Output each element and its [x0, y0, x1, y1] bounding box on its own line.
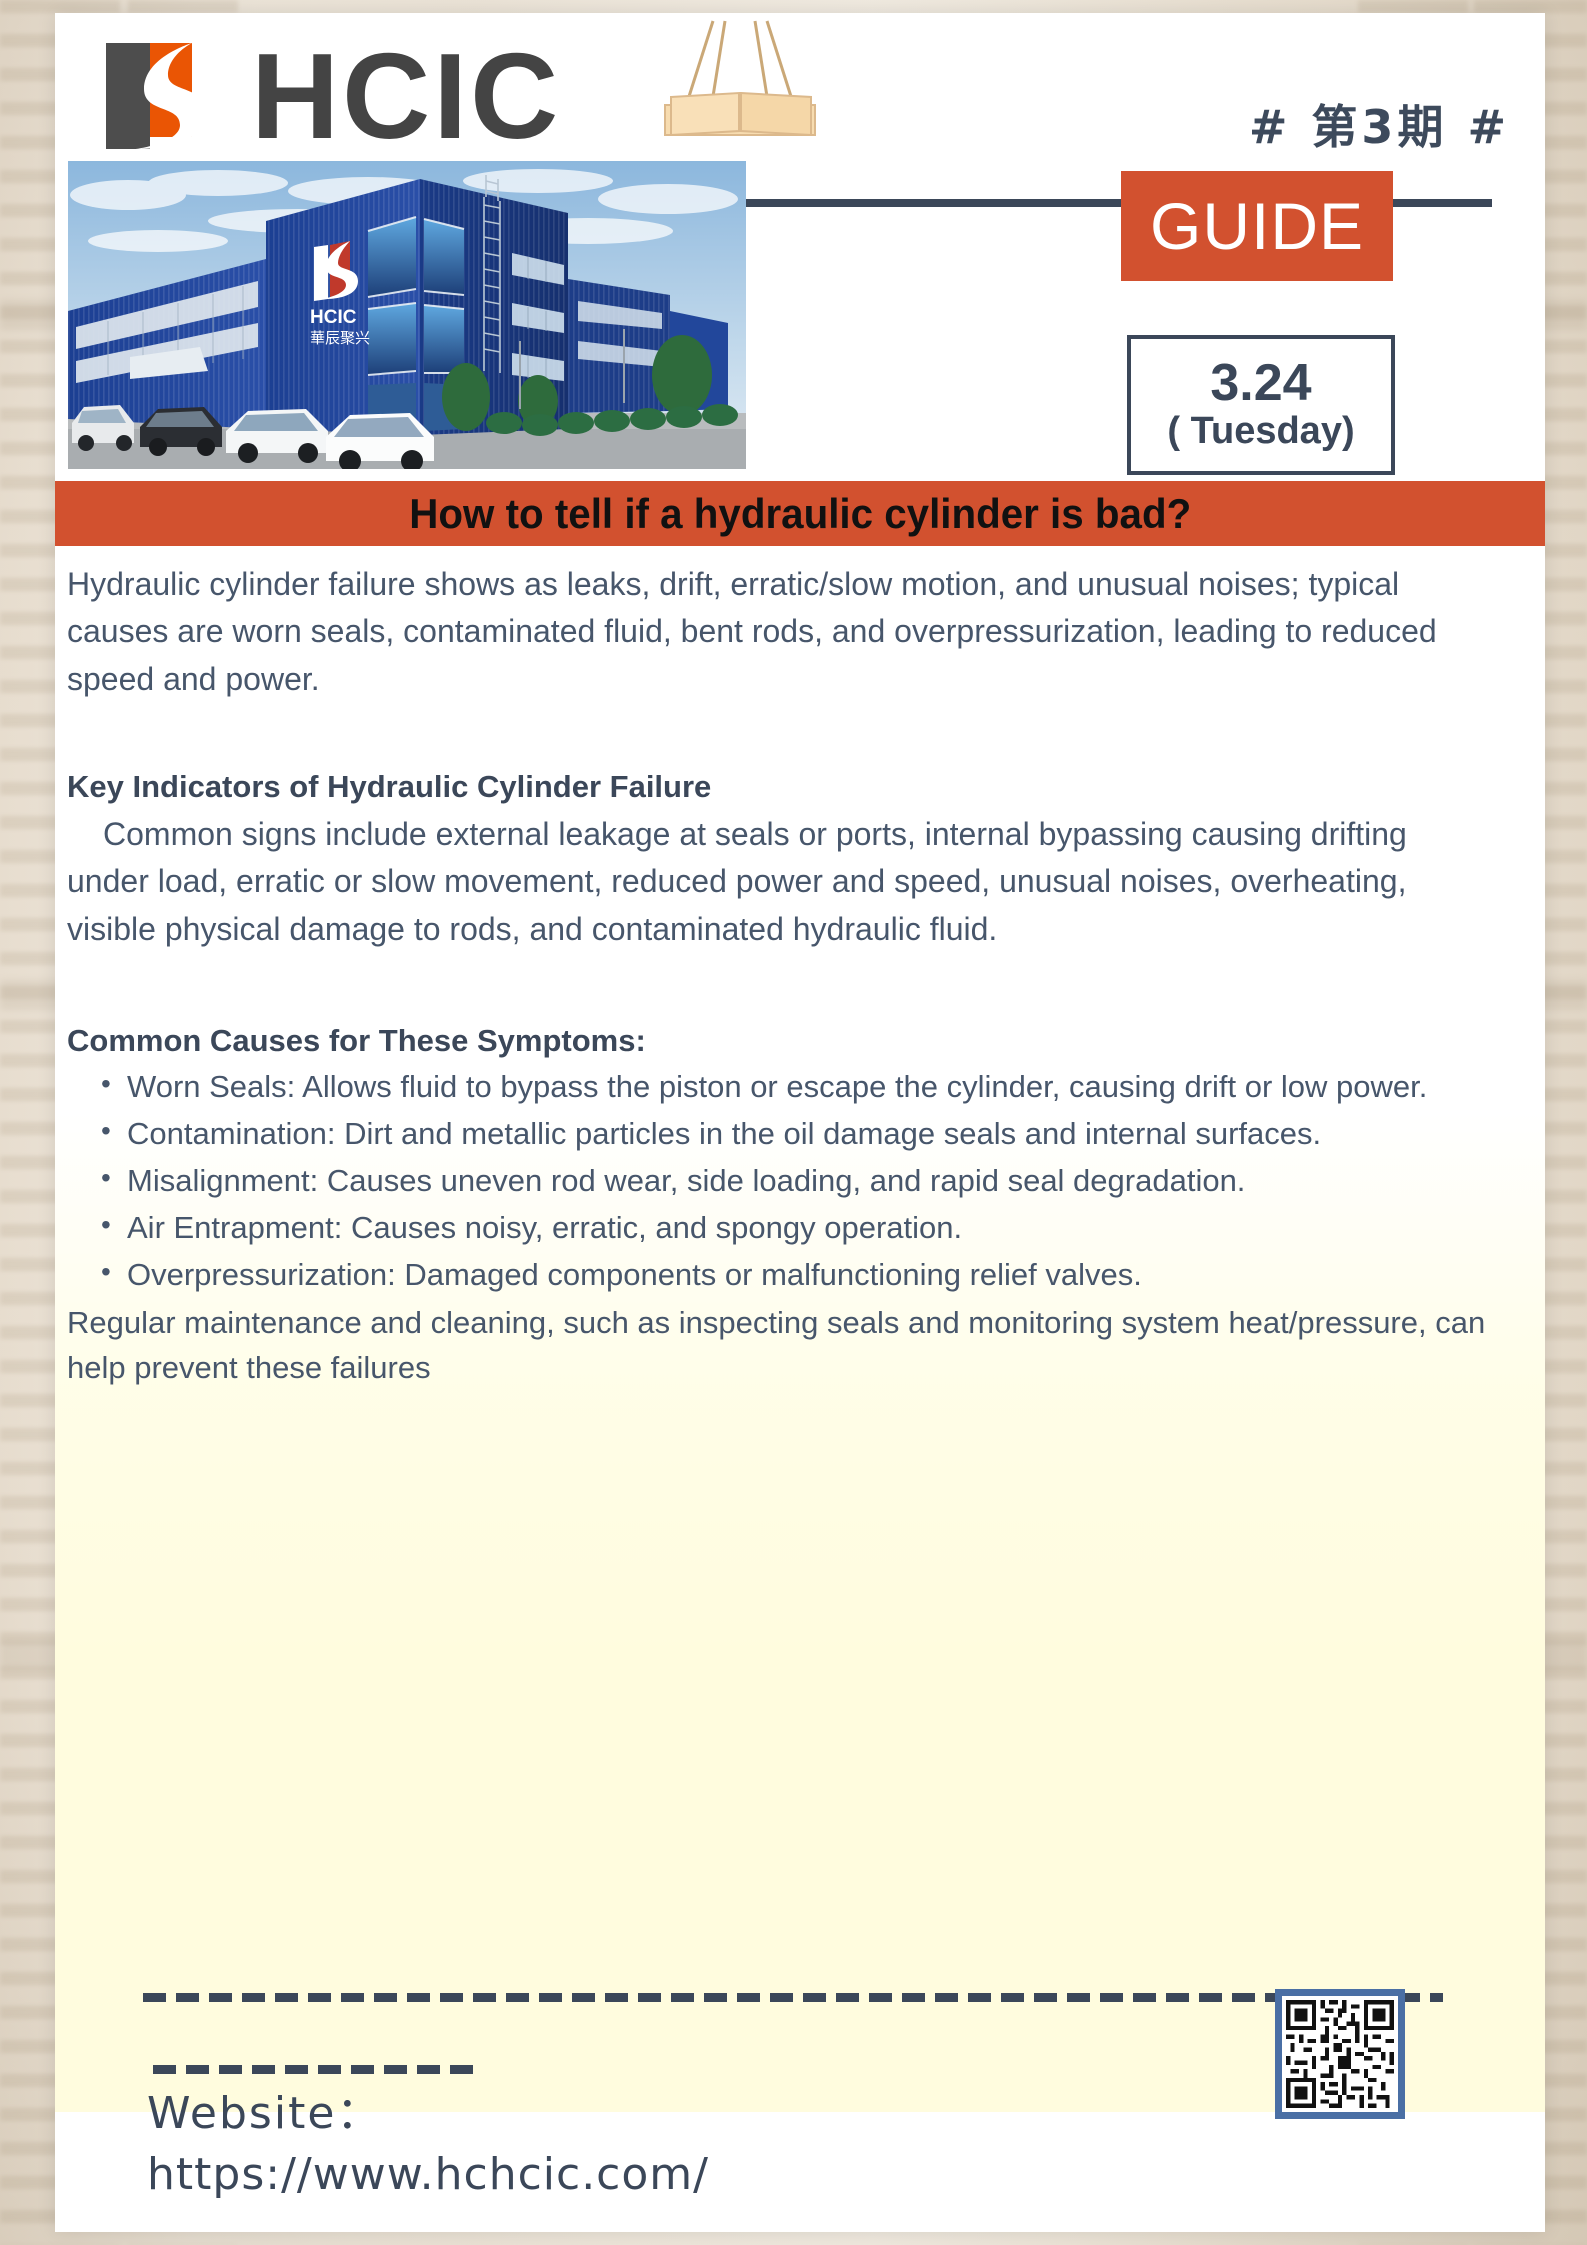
article-body: Hydraulic cylinder failure shows as leak…	[67, 561, 1487, 1421]
list-item: Misalignment: Causes uneven rod wear, si…	[101, 1159, 1487, 1204]
svg-text:華辰聚兴: 華辰聚兴	[310, 329, 370, 347]
causes-list: Worn Seals: Allows fluid to bypass the p…	[67, 1065, 1487, 1298]
page-title: How to tell if a hydraulic cylinder is b…	[409, 490, 1191, 538]
date-box: 3.24 ( Tuesday)	[1127, 335, 1395, 475]
date-value: 3.24	[1210, 356, 1311, 411]
intro-paragraph: Hydraulic cylinder failure shows as leak…	[67, 561, 1487, 703]
issue-number: # 第3期 #	[1249, 91, 1510, 157]
qr-code-icon[interactable]	[1275, 1989, 1405, 2119]
brand-wordmark: HCIC	[251, 35, 561, 157]
weekday-value: ( Tuesday)	[1167, 410, 1354, 454]
spacer-2	[67, 953, 1487, 1023]
list-item: Worn Seals: Allows fluid to bypass the p…	[101, 1065, 1487, 1110]
guide-badge: GUIDE	[1121, 171, 1393, 281]
list-item: Air Entrapment: Causes noisy, erratic, a…	[101, 1206, 1487, 1251]
building-photo: HCIC 華辰聚兴	[68, 161, 746, 469]
brand-logo: HCIC	[88, 35, 561, 157]
svg-text:HCIC: HCIC	[310, 307, 357, 328]
section-body-key-indicators: Common signs include external leakage at…	[67, 811, 1487, 953]
guide-badge-label: GUIDE	[1150, 188, 1364, 264]
list-item: Contamination: Dirt and metallic particl…	[101, 1112, 1487, 1157]
dashed-divider-long	[143, 1993, 1443, 2002]
poster-footer: Website： https://www.hchcic.com/	[55, 1983, 1545, 2243]
website-label: Website：	[147, 2077, 382, 2141]
list-item: Overpressurization: Damaged components o…	[101, 1253, 1487, 1298]
hcic-logo-icon	[88, 39, 233, 154]
poster-card: HCIC # 第3期 #	[55, 13, 1545, 2232]
title-banner: How to tell if a hydraulic cylinder is b…	[55, 481, 1545, 546]
section-heading-key-indicators: Key Indicators of Hydraulic Cylinder Fai…	[67, 769, 1487, 805]
website-url[interactable]: https://www.hchcic.com/	[147, 2149, 709, 2200]
closing-paragraph: Regular maintenance and cleaning, such a…	[67, 1300, 1487, 1391]
paperclip-icon	[655, 13, 825, 148]
section-heading-common-causes: Common Causes for These Symptoms:	[67, 1023, 1487, 1059]
spacer-1	[67, 703, 1487, 769]
dashed-divider-short	[153, 2065, 483, 2074]
